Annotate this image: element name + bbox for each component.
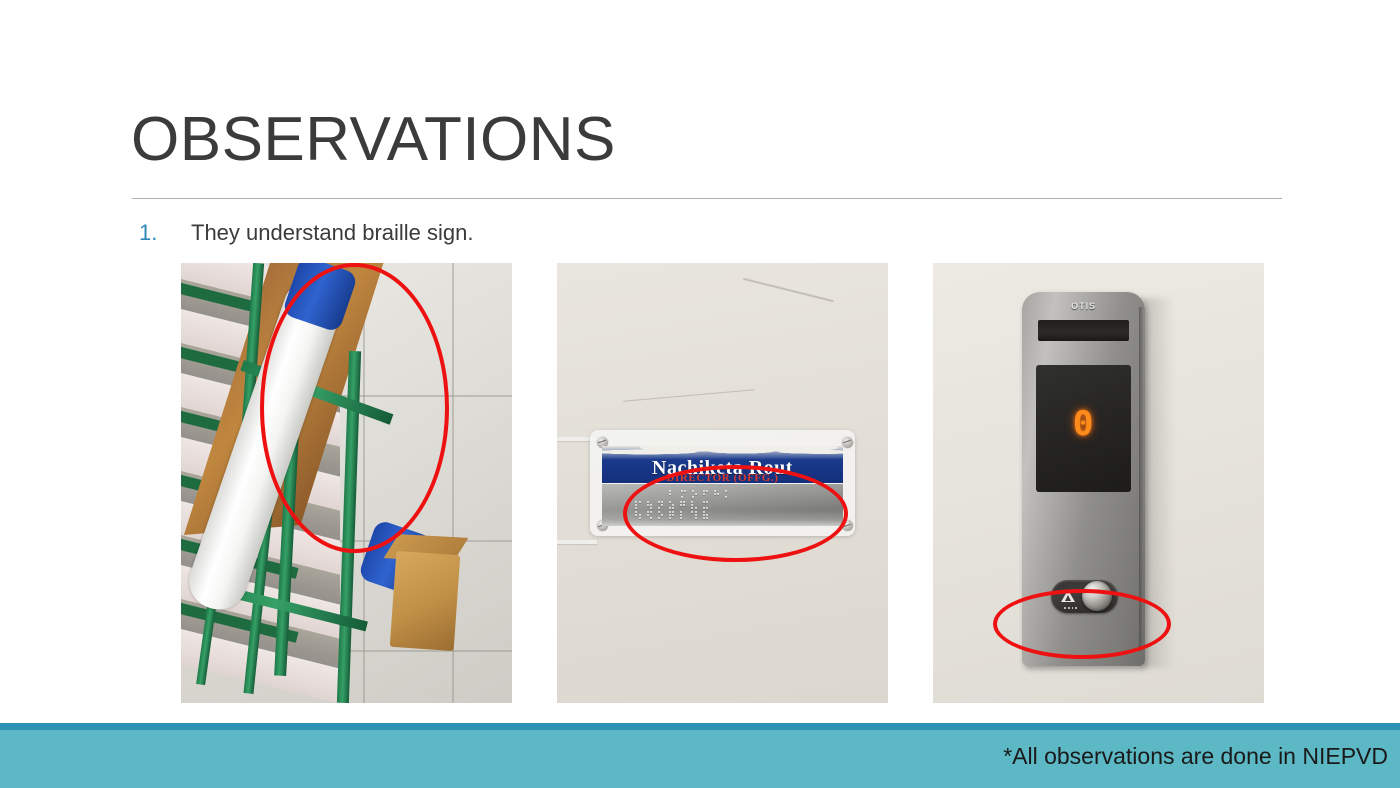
- tile-grout-line: [363, 263, 365, 703]
- braille-cell: [647, 511, 652, 519]
- screw-top-right: [842, 437, 853, 448]
- slide-canvas: OBSERVATIONS 1. They understand braille …: [0, 0, 1400, 788]
- floor-indicator-digit: 0: [1036, 404, 1132, 444]
- call-button[interactable]: [1082, 581, 1112, 611]
- call-button-plate[interactable]: [1051, 580, 1118, 614]
- screw-bottom-right: [842, 520, 853, 531]
- braille-cell: [669, 511, 674, 519]
- braille-cell: [635, 511, 640, 519]
- braille-cell: [703, 490, 708, 498]
- braille-cell: [658, 501, 663, 509]
- observations-list: 1. They understand braille sign.: [139, 220, 1279, 246]
- slide-footer: *All observations are done in NIEPVD: [0, 723, 1400, 788]
- photo-elevator-panel: OTIS 0: [933, 263, 1264, 703]
- page-title: OBSERVATIONS: [131, 107, 616, 172]
- wooden-post: [390, 551, 461, 651]
- braille-cell: [725, 490, 730, 498]
- braille-cell: [680, 501, 685, 509]
- braille-cell: [658, 511, 663, 519]
- photo-staircase-content: [181, 263, 512, 703]
- photo-braille-nameplate: Nachiketa Rout DIRECTOR (OFFG.): [557, 263, 888, 703]
- braille-cell: [669, 501, 674, 509]
- braille-cell: [703, 501, 708, 509]
- otis-brand-label: OTIS: [1022, 301, 1144, 311]
- braille-line-3: [635, 511, 710, 519]
- up-arrow-icon: [1061, 590, 1075, 602]
- list-item-number: 1.: [139, 220, 191, 246]
- nameplate-banner: Nachiketa Rout DIRECTOR (OFFG.): [602, 446, 844, 483]
- braille-cell: [635, 501, 640, 509]
- photo-staircase-handrail: [181, 263, 512, 703]
- braille-metal-plate: [602, 484, 844, 526]
- title-divider: [132, 198, 1282, 199]
- braille-cell: [680, 511, 685, 519]
- elevator-faceplate: OTIS 0: [1022, 292, 1144, 666]
- braille-line-2: [635, 501, 710, 509]
- braille-cell: [691, 511, 696, 519]
- braille-cell: [692, 490, 697, 498]
- braille-cell: [703, 511, 708, 519]
- list-item: 1. They understand braille sign.: [139, 220, 1279, 246]
- speaker-slot: [1038, 320, 1129, 341]
- braille-cell: [714, 490, 719, 498]
- panel-edge: [1139, 307, 1143, 651]
- list-item-label: They understand braille sign.: [191, 220, 474, 246]
- nameplate-role: DIRECTOR (OFFG.): [602, 472, 844, 483]
- braille-line-1: [669, 490, 733, 498]
- wall-wire: [557, 540, 597, 544]
- floor-indicator-display: 0: [1036, 365, 1132, 492]
- braille-cell: [691, 501, 696, 509]
- braille-cell: [647, 501, 652, 509]
- braille-cell: [669, 490, 674, 498]
- braille-cell: [681, 490, 686, 498]
- photo-nameplate-content: Nachiketa Rout DIRECTOR (OFFG.): [557, 263, 888, 703]
- footer-note: *All observations are done in NIEPVD: [1003, 743, 1388, 770]
- button-braille-label: [1064, 607, 1077, 609]
- panel-shadow: [1142, 298, 1175, 668]
- footer-accent-bar: [0, 723, 1400, 730]
- photo-elevator-content: OTIS 0: [933, 263, 1264, 703]
